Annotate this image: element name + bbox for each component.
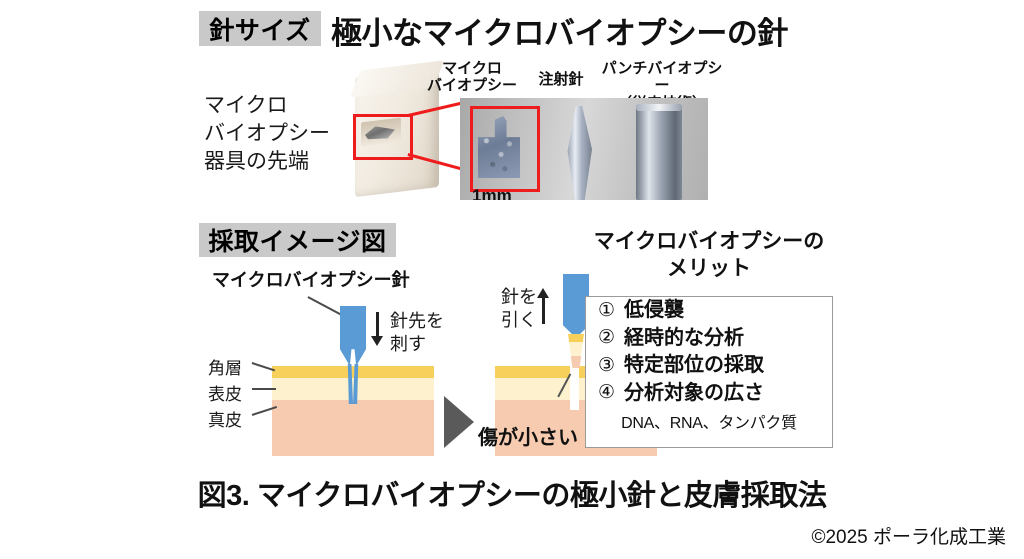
pull-arrow-head [537, 288, 549, 298]
merit-item-4: ④ 分析対象の広さ [586, 380, 832, 408]
merits-title: マイクロバイオプシーの メリット [575, 228, 843, 283]
pull-action-label: 針を 引く [479, 286, 537, 331]
step-arrow-icon [444, 396, 474, 448]
photo-label-punch-line-1: パンチバイオプシー [596, 60, 728, 95]
merits-note: DNA、RNA、タンパク質 [586, 409, 832, 433]
merit-number-3: ③ [598, 355, 615, 377]
insert-action-line-1: 針先を [390, 310, 444, 333]
insert-arrow-shaft [376, 312, 379, 338]
sampling-diagram: マイクロバイオプシー針 針先を 刺す 角層 表皮 真皮 針を 引く 傷が小さい [190, 268, 570, 468]
page-title: 極小なマイクロバイオプシーの針 [331, 8, 801, 48]
leader-epidermis [252, 388, 276, 390]
red-highlight-box-zoom [470, 106, 540, 192]
section-badge-sampling: 採取イメージ図 [199, 223, 396, 257]
insert-action-label: 針先を 刺す [390, 310, 444, 355]
device-tip-label: マイクロ バイオプシー 器具の先端 [204, 92, 344, 176]
red-highlight-box-device [353, 114, 413, 160]
syringe-needle-specimen [566, 106, 592, 200]
section-badge-needle-size: 針サイズ [199, 11, 321, 46]
skin-label-epidermis: 表皮 [208, 380, 242, 405]
device-label-line-3: 器具の先端 [204, 148, 344, 176]
merits-box: ① 低侵襲 ② 経時的な分析 ③ 特定部位の採取 ④ 分析対象の広さ DNA、R… [585, 296, 833, 448]
merit-item-3: ③ 特定部位の採取 [586, 352, 832, 380]
merit-text-2: 経時的な分析 [624, 327, 744, 351]
pull-action-line-2: 引く [479, 309, 537, 332]
merit-text-3: 特定部位の採取 [624, 354, 764, 378]
skin-label-dermis: 真皮 [208, 406, 242, 431]
photo-label-syringe: 注射針 [528, 71, 594, 88]
wound-label: 傷が小さい [478, 421, 578, 450]
collected-tissue-sample [567, 334, 585, 368]
diagram-needle-label: マイクロバイオプシー針 [212, 266, 410, 292]
layer-dermis-before [272, 400, 434, 456]
merit-number-2: ② [598, 327, 615, 349]
merits-title-line-1: マイクロバイオプシーの [575, 228, 843, 255]
needle-inserting [340, 306, 366, 366]
device-label-line-1: マイクロ [204, 92, 344, 120]
merit-number-1: ① [598, 300, 615, 322]
merit-number-4: ④ [598, 382, 615, 404]
insert-action-line-2: 刺す [390, 333, 444, 356]
layer-epidermis-before [272, 378, 434, 400]
copyright-notice: ©2025 ポーラ化成工業 [0, 522, 1006, 549]
photo-label-micro-line-1: マイクロ [424, 60, 520, 77]
figure-caption: 図3. マイクロバイオプシーの極小針と皮膚採取法 [0, 472, 1024, 514]
pull-action-line-1: 針を [479, 286, 537, 309]
merit-item-2: ② 経時的な分析 [586, 325, 832, 353]
merit-text-4: 分析対象の広さ [624, 382, 764, 406]
punch-biopsy-needle-specimen [636, 104, 682, 200]
photo-label-micro-biopsy: マイクロ バイオプシー [424, 60, 520, 95]
needles-comparison-photo: 1mm [460, 98, 708, 200]
merit-text-1: 低侵襲 [624, 299, 684, 323]
layer-cornified-before [272, 366, 434, 378]
device-label-line-2: バイオプシー [204, 120, 344, 148]
photo-label-micro-line-2: バイオプシー [424, 77, 520, 94]
skin-label-cornified: 角層 [208, 354, 242, 379]
insert-arrow-head [371, 336, 383, 346]
merit-item-1: ① 低侵襲 [586, 297, 832, 325]
merits-title-line-2: メリット [575, 255, 843, 282]
pull-arrow-shaft [542, 298, 545, 324]
skin-block-before [272, 366, 434, 456]
scale-bar-label: 1mm [472, 186, 512, 200]
wound-channel [570, 366, 579, 410]
